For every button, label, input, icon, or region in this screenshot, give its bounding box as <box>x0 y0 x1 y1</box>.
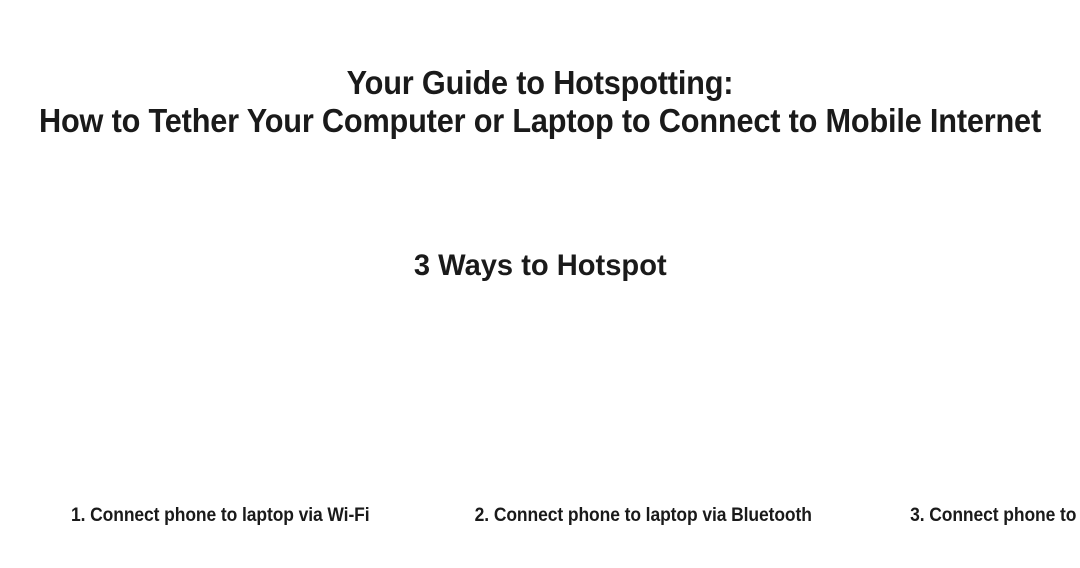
page-title-line-1: Your Guide to Hotspotting: <box>38 64 1042 102</box>
page-title-line-2: How to Tether Your Computer or Laptop to… <box>38 102 1042 140</box>
figure-bluetooth: 2. Connect phone to laptop via Bluetooth <box>460 294 800 568</box>
figure-image-wifi <box>40 294 380 499</box>
figure-caption-bluetooth-text: 2. Connect phone to laptop via Bluetooth <box>475 505 812 527</box>
figure-caption-bluetooth: 2. Connect phone to laptop via Bluetooth <box>460 505 820 527</box>
article-page: Your Guide to Hotspotting: How to Tether… <box>0 0 1080 552</box>
figure-caption-wifi: 1. Connect phone to laptop via Wi-Fi <box>40 505 400 527</box>
figure-wifi: 1. Connect phone to laptop via Wi-Fi <box>40 294 380 568</box>
figure-caption-cable-text: 3. Connect phone to laptop via cable <box>910 505 1080 527</box>
figure-caption-cable: 3. Connect phone to laptop via cable <box>880 505 1080 527</box>
page-title: Your Guide to Hotspotting: How to Tether… <box>38 64 1042 140</box>
figure-cable: 3. Connect phone to laptop via cable <box>880 294 1080 568</box>
figure-caption-wifi-text: 1. Connect phone to laptop via Wi-Fi <box>71 505 370 527</box>
figure-image-cable <box>880 294 1080 499</box>
figure-row: 1. Connect phone to laptop via Wi-Fi 2. … <box>0 278 1080 552</box>
figure-image-bluetooth <box>460 294 800 499</box>
